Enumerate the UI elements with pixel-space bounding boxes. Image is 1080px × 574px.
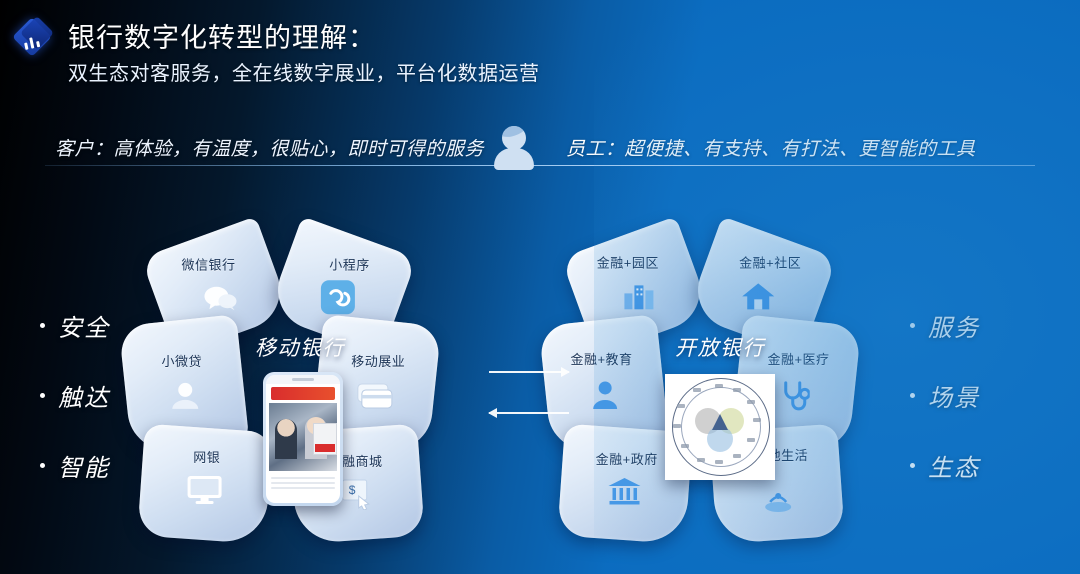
student-person-icon <box>546 380 664 410</box>
person-avatar-icon <box>492 126 536 170</box>
band-divider <box>45 165 1035 166</box>
mobile-phone-mockup <box>263 372 343 506</box>
phone-status-bar <box>266 375 340 384</box>
eco-tick <box>715 384 723 388</box>
bullet-label: 服务 <box>928 308 980 343</box>
eco-tick <box>673 424 681 428</box>
bullet-dot-icon <box>910 463 915 468</box>
eco-tick <box>733 388 741 392</box>
avatar-head <box>502 126 526 150</box>
open-bank-cluster: 金融+园区 金融+社区 <box>555 228 885 548</box>
petal-online-banking[interactable]: 网银 <box>137 424 273 545</box>
phone-content-lines <box>271 477 335 493</box>
bullet-dot-icon <box>40 393 45 398</box>
bullet-dot-icon <box>910 393 915 398</box>
bullet-item-ecosystem: 生态 <box>910 430 980 500</box>
government-bank-icon <box>561 476 689 506</box>
arrow-right-to-left <box>489 412 569 414</box>
customer-statement: 客户：高体验，有温度，很贴心，即时可得的服务 <box>55 134 484 161</box>
bullet-item-service: 服务 <box>910 290 980 360</box>
eco-tick <box>677 404 685 408</box>
petal-label: 金融+社区 <box>709 255 831 271</box>
employee-statement: 员工：超便捷、有支持、有打法、更智能的工具 <box>566 134 976 161</box>
eco-tick <box>747 400 755 404</box>
svg-text:$: $ <box>349 483 356 497</box>
petal-label: 网银 <box>143 450 271 466</box>
petal-label: 金融+园区 <box>567 255 689 271</box>
page-subtitle: 双生态对客服务，全在线数字展业，平台化数据运营 <box>68 57 540 86</box>
bullet-item-reach: 触达 <box>40 360 110 430</box>
eco-tick <box>747 438 755 442</box>
right-bullet-list: 服务 场景 生态 <box>910 290 980 500</box>
bullet-label: 安全 <box>58 308 110 343</box>
eco-tick <box>753 418 761 422</box>
bullet-label: 生态 <box>928 448 980 483</box>
slide-canvas: 银行数字化转型的理解： 双生态对客服务，全在线数字展业，平台化数据运营 客户：高… <box>0 0 1080 574</box>
buildings-icon <box>578 281 700 309</box>
bullet-label: 触达 <box>58 378 110 413</box>
person-loan-icon <box>126 382 244 410</box>
bullet-item-scenario: 场景 <box>910 360 980 430</box>
cluster-center-label-mobile-bank: 移动银行 <box>135 332 465 362</box>
ecosystem-circle-diagram <box>665 374 775 480</box>
left-bullet-list: 安全 触达 智能 <box>40 290 110 500</box>
brand-diamond-logo-icon <box>13 18 53 58</box>
mobile-bank-cluster: 微信银行 小程序 小微贷 <box>135 228 465 548</box>
bullet-dot-icon <box>40 323 45 328</box>
phone-side-card <box>313 423 337 455</box>
bullet-label: 智能 <box>58 448 110 483</box>
eco-tick <box>693 388 701 392</box>
bullet-item-security: 安全 <box>40 290 110 360</box>
petal-label: 小程序 <box>288 257 410 273</box>
cluster-center-label-open-bank: 开放银行 <box>555 332 885 362</box>
bullet-dot-icon <box>910 323 915 328</box>
desktop-monitor-icon <box>141 474 269 506</box>
logo-bars <box>23 33 45 50</box>
mini-program-icon <box>277 279 399 315</box>
eco-tick <box>715 460 723 464</box>
local-life-icon <box>714 488 842 514</box>
avatar-body <box>494 148 534 170</box>
eco-tick <box>681 444 689 448</box>
wechat-chat-bubble-icon <box>159 285 281 311</box>
phone-screen <box>266 375 340 503</box>
eco-tick <box>697 458 705 462</box>
bullet-item-intelligence: 智能 <box>40 430 110 500</box>
eco-center-triangle <box>712 414 728 430</box>
page-title: 银行数字化转型的理解： <box>68 16 376 55</box>
petal-label: 微信银行 <box>148 257 270 273</box>
arrow-left-to-right <box>489 371 569 373</box>
house-icon <box>697 281 819 311</box>
eco-tick <box>733 454 741 458</box>
phone-promo-banner <box>271 387 335 400</box>
bullet-label: 场景 <box>928 378 980 413</box>
bullet-dot-icon <box>40 463 45 468</box>
